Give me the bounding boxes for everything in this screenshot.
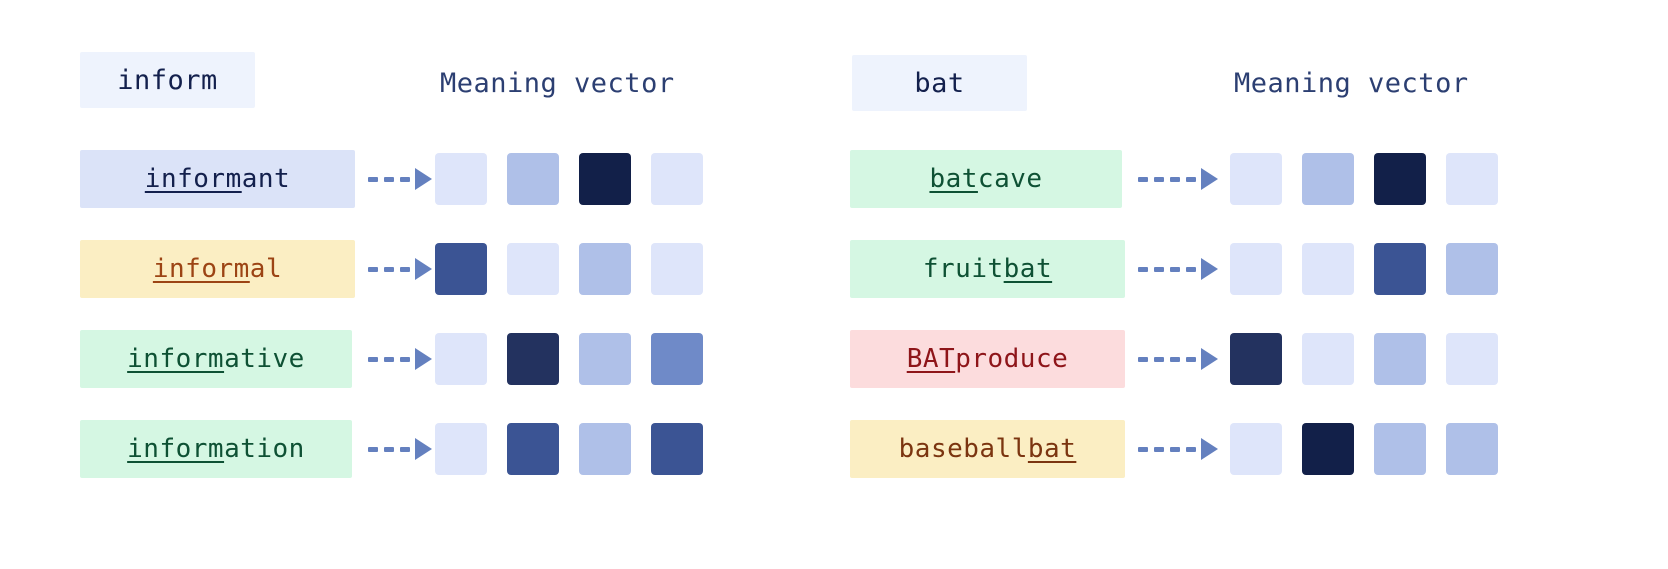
arrow-dash [368,357,378,362]
meaning-vector-bat-produce [1230,333,1498,385]
arrow-dash [1186,357,1196,362]
panel-bat: bat Meaning vector bat cave [834,0,1668,569]
arrow-head [1201,348,1218,370]
arrow-head [415,258,432,280]
vector-cell [651,333,703,385]
phrase-suffix: ative [224,344,305,374]
arrow-head [415,168,432,190]
vector-cell [651,423,703,475]
vector-cell [1230,243,1282,295]
vector-cell [1302,423,1354,475]
phrase-suffix: al [250,254,282,284]
row-bat-cave: bat cave [850,150,1490,208]
arrow-dash [1170,447,1180,452]
arrow-dash [1138,177,1148,182]
arrow-dash [1186,267,1196,272]
vector-cell [435,423,487,475]
vector-cell [1446,243,1498,295]
arrow-dash [1186,177,1196,182]
arrow-dash [400,447,410,452]
arrow-head [1201,258,1218,280]
row-bat-produce: BAT produce [850,330,1490,388]
arrow-dash [368,177,378,182]
dashed-arrow-right-icon [1138,172,1218,186]
arrow-dash [1138,357,1148,362]
dashed-arrow-right-icon [368,442,432,456]
phrase-highlight: inform [127,344,224,374]
vector-cell [1374,423,1426,475]
arrow-dash [368,267,378,272]
phrase-chip-bat-produce: BAT produce [850,330,1125,388]
meaning-vector-informant [435,153,703,205]
phrase-chip-informative: informative [80,330,352,388]
phrase-chip-baseball-bat: baseball bat [850,420,1125,478]
vector-cell [651,243,703,295]
arrow-dash [384,447,394,452]
vector-cell [1230,333,1282,385]
phrase-highlight: inform [145,164,242,194]
meaning-vector-fruit-bat [1230,243,1498,295]
arrow-dash [384,177,394,182]
vector-cell [1302,243,1354,295]
meaning-vector-information [435,423,703,475]
vector-cell [507,243,559,295]
arrow-dash [1154,267,1164,272]
arrow-dash [1138,267,1148,272]
phrase-chip-informant: informant [80,150,355,208]
vector-cell [651,153,703,205]
dashed-arrow-right-icon [368,262,432,276]
vector-header-right: Meaning vector [1234,68,1469,99]
diagram-canvas: inform Meaning vector informant [0,0,1668,569]
phrase-highlight: inform [153,254,250,284]
arrow-head [415,438,432,460]
row-informative: informative [80,330,720,388]
dashed-arrow-right-icon [1138,352,1218,366]
phrase-chip-bat-cave: bat cave [850,150,1122,208]
vector-cell [579,243,631,295]
vector-cell [1374,333,1426,385]
row-information: information [80,420,720,478]
meaning-vector-informal [435,243,703,295]
vector-cell [435,243,487,295]
vector-cell [1446,153,1498,205]
phrase-chip-information: information [80,420,352,478]
phrase-highlight: inform [127,434,224,464]
vector-cell [579,333,631,385]
phrase-chip-informal: informal [80,240,355,298]
arrow-head [1201,168,1218,190]
phrase-highlight: BAT [907,344,955,374]
arrow-head [1201,438,1218,460]
vector-cell [1230,423,1282,475]
phrase-highlight: bat [1004,254,1052,284]
arrow-head [415,348,432,370]
arrow-dash [384,357,394,362]
vector-cell [1446,333,1498,385]
vector-cell [1302,333,1354,385]
phrase-suffix: ation [224,434,305,464]
arrow-dash [1170,267,1180,272]
panel-inform: inform Meaning vector informant [0,0,834,569]
vector-cell [507,423,559,475]
vector-cell [507,153,559,205]
arrow-dash [368,447,378,452]
vector-cell [1374,243,1426,295]
arrow-dash [1154,357,1164,362]
arrow-dash [1186,447,1196,452]
meaning-vector-baseball-bat [1230,423,1498,475]
phrase-highlight: bat [929,164,977,194]
vector-cell [1302,153,1354,205]
phrase-suffix: produce [955,344,1068,374]
arrow-dash [384,267,394,272]
vector-cell [579,423,631,475]
meaning-vector-bat-cave [1230,153,1498,205]
vector-cell [435,153,487,205]
meaning-vector-informative [435,333,703,385]
phrase-highlight: bat [1028,434,1076,464]
phrase-prefix: fruit [923,254,1004,284]
arrow-dash [1154,177,1164,182]
arrow-dash [1170,177,1180,182]
word-chip-inform: inform [80,52,255,108]
row-fruit-bat: fruit bat [850,240,1490,298]
phrase-suffix: cave [978,164,1043,194]
arrow-dash [1138,447,1148,452]
word-chip-bat: bat [852,55,1027,111]
vector-cell [435,333,487,385]
arrow-dash [1170,357,1180,362]
row-informal: informal [80,240,720,298]
arrow-dash [400,357,410,362]
phrase-prefix: baseball [899,434,1028,464]
vector-cell [1446,423,1498,475]
vector-cell [1374,153,1426,205]
dashed-arrow-right-icon [1138,262,1218,276]
arrow-dash [400,177,410,182]
row-informant: informant [80,150,720,208]
vector-cell [1230,153,1282,205]
dashed-arrow-right-icon [1138,442,1218,456]
vector-cell [579,153,631,205]
vector-header-left: Meaning vector [440,68,675,99]
arrow-dash [1154,447,1164,452]
row-baseball-bat: baseball bat [850,420,1490,478]
dashed-arrow-right-icon [368,352,432,366]
phrase-suffix: ant [242,164,290,194]
arrow-dash [400,267,410,272]
dashed-arrow-right-icon [368,172,432,186]
phrase-chip-fruit-bat: fruit bat [850,240,1125,298]
vector-cell [507,333,559,385]
